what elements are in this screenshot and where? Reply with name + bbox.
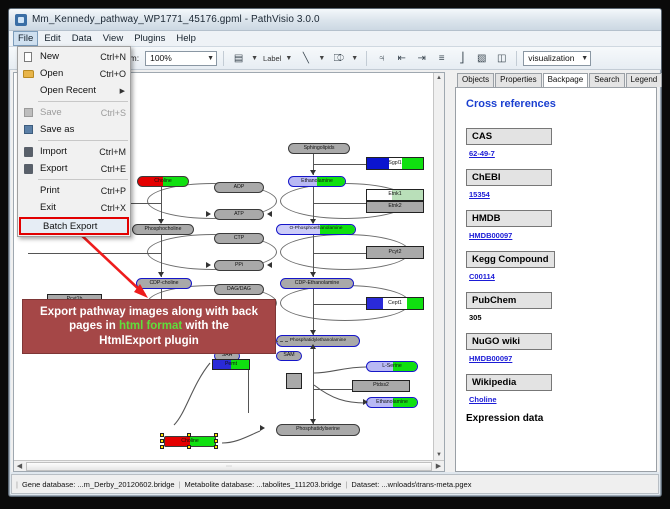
align-right-icon[interactable]: ⇥ [413, 50, 430, 67]
menu-edit[interactable]: Edit [39, 31, 65, 46]
menu-view[interactable]: View [98, 31, 128, 46]
shape-tool-icon[interactable]: ⎄ [330, 50, 347, 67]
blank-icon-4 [23, 219, 39, 233]
cross-references-title: Cross references [466, 98, 656, 110]
file-menu-new[interactable]: New Ctrl+N [18, 48, 130, 65]
toolbar-separator-3 [516, 51, 517, 66]
xref-kegg: Kegg Compound C00114 [466, 249, 656, 281]
file-menu-exit[interactable]: Exit Ctrl+X [18, 199, 130, 216]
label-dropdown-icon[interactable]: ▼ [285, 55, 292, 62]
window-title: Mm_Kennedy_pathway_WP1771_45176.gpml - P… [32, 14, 320, 25]
status-sep-2: | [345, 480, 347, 489]
gene-product-tool-icon[interactable]: ▤ [230, 50, 247, 67]
tab-properties[interactable]: Properties [495, 73, 541, 87]
align-left-icon[interactable]: ⇤ [393, 50, 410, 67]
blank-icon-3 [20, 201, 36, 215]
xref-cas: CAS 62-49-7 [466, 126, 656, 158]
file-menu-new-accel: Ctrl+N [100, 52, 130, 62]
callout-line1-b: back [232, 306, 258, 318]
menu-file[interactable]: File [13, 31, 38, 46]
status-sep-1: | [179, 480, 181, 489]
tab-objects[interactable]: Objects [457, 73, 494, 87]
import-icon [20, 145, 36, 159]
xref-wikipedia: Wikipedia Choline [466, 372, 656, 404]
file-menu-save-label: Save [40, 107, 101, 118]
blank-icon [20, 84, 36, 98]
xref-cas-link[interactable]: 62-49-7 [466, 149, 656, 158]
file-menu-export-accel: Ctrl+E [101, 164, 130, 174]
menu-data[interactable]: Data [67, 31, 97, 46]
align-center-icon[interactable]: ♃ [373, 50, 390, 67]
stack-vertical-icon[interactable]: ≡ [433, 50, 450, 67]
xref-nugo-link[interactable]: HMDB00097 [466, 354, 656, 363]
file-menu-save-as-label: Save as [40, 124, 126, 135]
zoom-value: 100% [150, 53, 172, 63]
toolbar-separator-2 [366, 51, 367, 66]
file-menu-open-label: Open [40, 68, 100, 79]
file-menu-import-label: Import [40, 146, 99, 157]
xref-pubchem-value: 305 [466, 313, 656, 322]
file-menu-save-accel: Ctrl+S [101, 108, 130, 118]
xref-chebi-link[interactable]: 15354 [466, 190, 656, 199]
group-icon[interactable]: ◫ [493, 50, 510, 67]
screenshot-root: Mm_Kennedy_pathway_WP1771_45176.gpml - P… [0, 0, 670, 509]
file-menu-save: Save Ctrl+S [18, 104, 130, 121]
callout-line1-a: Export pathway images along with [40, 306, 229, 318]
xref-wikipedia-link[interactable]: Choline [466, 395, 656, 404]
gene-product-dropdown-icon[interactable]: ▼ [251, 55, 258, 62]
tab-backpage[interactable]: Backpage [543, 73, 589, 88]
application-window: Mm_Kennedy_pathway_WP1771_45176.gpml - P… [8, 8, 662, 497]
file-menu-print-label: Print [40, 185, 101, 196]
visualization-value: visualization [528, 53, 574, 63]
annotation-callout: Export pathway images along with back pa… [22, 299, 276, 354]
file-menu-open-recent-label: Open Recent [40, 85, 120, 96]
file-menu-import-accel: Ctrl+M [99, 147, 130, 157]
export-icon [20, 162, 36, 176]
xref-wikipedia-header: Wikipedia [466, 374, 552, 391]
xref-cas-header: CAS [466, 128, 552, 145]
file-menu-export[interactable]: Export Ctrl+E [18, 160, 130, 177]
toolbar-separator [223, 51, 224, 66]
save-as-icon [20, 123, 36, 137]
backpage-content[interactable]: ▲ ▼ Cross references CAS 62-49-7 ChEBI 1… [455, 87, 657, 472]
xref-hmdb: HMDB HMDB00097 [466, 208, 656, 240]
status-metabolite-database: Metabolite database: ...tabolites_111203… [185, 480, 342, 489]
distribute-horizontal-icon[interactable]: ⎦ [453, 50, 470, 67]
title-bar: Mm_Kennedy_pathway_WP1771_45176.gpml - P… [9, 9, 661, 31]
file-menu-export-label: Export [40, 163, 101, 174]
file-menu-separator-3 [38, 179, 128, 180]
visualization-combobox[interactable]: visualization ▼ [523, 51, 591, 66]
xref-hmdb-header: HMDB [466, 210, 552, 227]
callout-line3: HtmlExport plugin [99, 335, 199, 347]
line-dropdown-icon[interactable]: ▼ [318, 55, 325, 62]
file-menu-open-recent[interactable]: Open Recent ▶ [18, 82, 130, 99]
file-menu-dropdown[interactable]: New Ctrl+N Open Ctrl+O Open Recent ▶ Sav… [17, 46, 131, 237]
shape-dropdown-icon[interactable]: ▼ [351, 55, 358, 62]
xref-nugo-header: NuGO wiki [466, 333, 552, 350]
backpage-inner: Cross references CAS 62-49-7 ChEBI 15354… [456, 88, 656, 424]
line-tool-icon[interactable]: ╲ [297, 50, 314, 67]
tab-search[interactable]: Search [589, 73, 624, 87]
xref-chebi-header: ChEBI [466, 169, 552, 186]
side-panel: Objects Properties Backpage Search Legen… [447, 72, 657, 472]
blank-icon-2 [20, 184, 36, 198]
save-icon [20, 106, 36, 120]
label-tool-label[interactable]: Label [263, 54, 281, 63]
file-menu-batch-export-label: Batch Export [43, 221, 127, 232]
file-menu-exit-label: Exit [40, 202, 101, 213]
xref-pubchem-header: PubChem [466, 292, 552, 309]
xref-hmdb-link[interactable]: HMDB00097 [466, 231, 656, 240]
xref-nugo: NuGO wiki HMDB00097 [466, 331, 656, 363]
file-menu-separator-2 [38, 140, 128, 141]
xref-kegg-header: Kegg Compound [466, 251, 555, 268]
new-page-icon [20, 50, 36, 64]
submenu-arrow-icon: ▶ [120, 87, 130, 95]
file-menu-import[interactable]: Import Ctrl+M [18, 143, 130, 160]
file-menu-save-as[interactable]: Save as [18, 121, 130, 138]
xref-pubchem: PubChem 305 [466, 290, 656, 322]
status-dataset: Dataset: ...wnloads\trans-meta.pgex [351, 480, 471, 489]
status-sep-0: | [16, 480, 18, 489]
pathvisio-icon [15, 14, 27, 26]
menu-help[interactable]: Help [171, 31, 201, 46]
file-menu-print[interactable]: Print Ctrl+P [18, 182, 130, 199]
folder-icon [20, 67, 36, 81]
callout-line2-a: pages in [69, 320, 119, 332]
xref-chebi: ChEBI 15354 [466, 167, 656, 199]
status-gene-database: Gene database: ...m_Derby_20120602.bridg… [22, 480, 175, 489]
menu-plugins[interactable]: Plugins [129, 31, 170, 46]
file-menu-new-label: New [40, 51, 100, 62]
file-menu-exit-accel: Ctrl+X [101, 203, 130, 213]
chevron-down-icon-2: ▼ [581, 55, 588, 62]
callout-highlight: html format [119, 320, 182, 332]
same-size-icon[interactable]: ▧ [473, 50, 490, 67]
file-menu-open[interactable]: Open Ctrl+O [18, 65, 130, 82]
status-bar: | Gene database: ...m_Derby_20120602.bri… [11, 474, 659, 494]
file-menu-batch-export[interactable]: Batch Export [19, 217, 129, 235]
chevron-down-icon: ▼ [207, 55, 214, 62]
expression-data-title: Expression data [466, 413, 656, 424]
file-menu-open-accel: Ctrl+O [100, 69, 130, 79]
callout-line2-b: with the [182, 320, 229, 332]
file-menu-separator-1 [38, 101, 128, 102]
tab-legend[interactable]: Legend [626, 73, 663, 87]
zoom-combobox[interactable]: 100% ▼ [145, 51, 217, 66]
side-panel-tabs[interactable]: Objects Properties Backpage Search Legen… [447, 72, 657, 87]
file-menu-print-accel: Ctrl+P [101, 186, 130, 196]
menu-bar[interactable]: File Edit Data View Plugins Help [9, 31, 661, 47]
xref-kegg-link[interactable]: C00114 [466, 272, 656, 281]
